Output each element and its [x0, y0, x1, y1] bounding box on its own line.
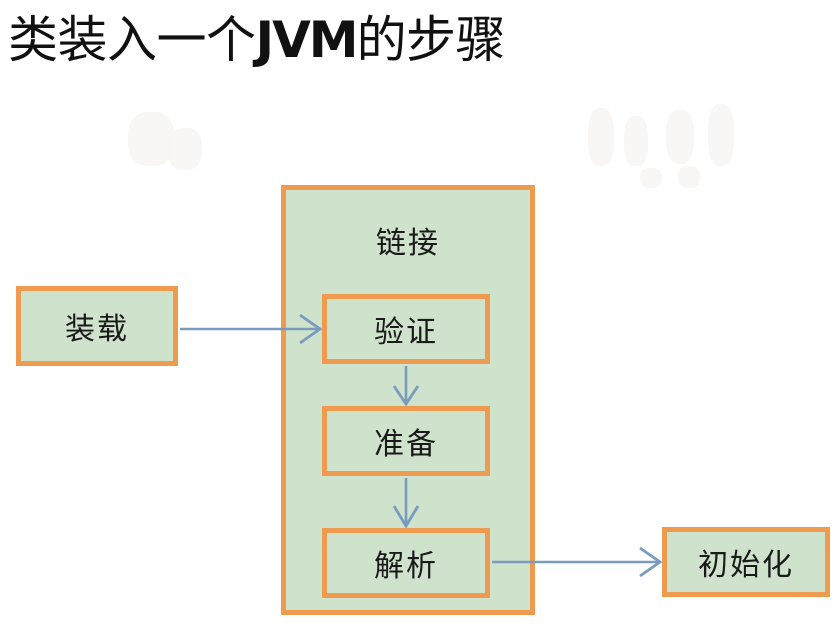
page-title-prefix: 类装入一个 [8, 11, 256, 69]
node-load-label: 装载 [65, 304, 129, 348]
page-title-bold: JVM [256, 11, 357, 69]
watermark-smudge [708, 104, 734, 166]
node-resolve-label: 解析 [374, 541, 438, 585]
node-verify-label: 验证 [374, 307, 438, 351]
node-verify[interactable]: 验证 [322, 294, 490, 364]
watermark-smudge [128, 112, 174, 166]
node-prepare[interactable]: 准备 [322, 406, 490, 476]
slide-canvas: 类装入一个JVM的步骤 链接 装载 验证 准备 解析 初始化 [0, 0, 838, 631]
group-box-link-label: 链接 [286, 218, 530, 262]
watermark-smudge [624, 116, 648, 166]
watermark-smudge [168, 128, 202, 170]
watermark-smudge [640, 168, 662, 188]
watermark-smudge [666, 110, 694, 164]
watermark-smudge [678, 166, 700, 188]
node-prepare-label: 准备 [374, 419, 438, 463]
page-title: 类装入一个JVM的步骤 [8, 6, 708, 78]
node-resolve[interactable]: 解析 [322, 528, 490, 598]
page-title-suffix: 的步骤 [357, 11, 506, 69]
node-initialize-label: 初始化 [698, 540, 794, 584]
watermark-smudge [588, 108, 614, 166]
node-initialize[interactable]: 初始化 [662, 527, 830, 597]
node-load[interactable]: 装载 [16, 286, 178, 366]
